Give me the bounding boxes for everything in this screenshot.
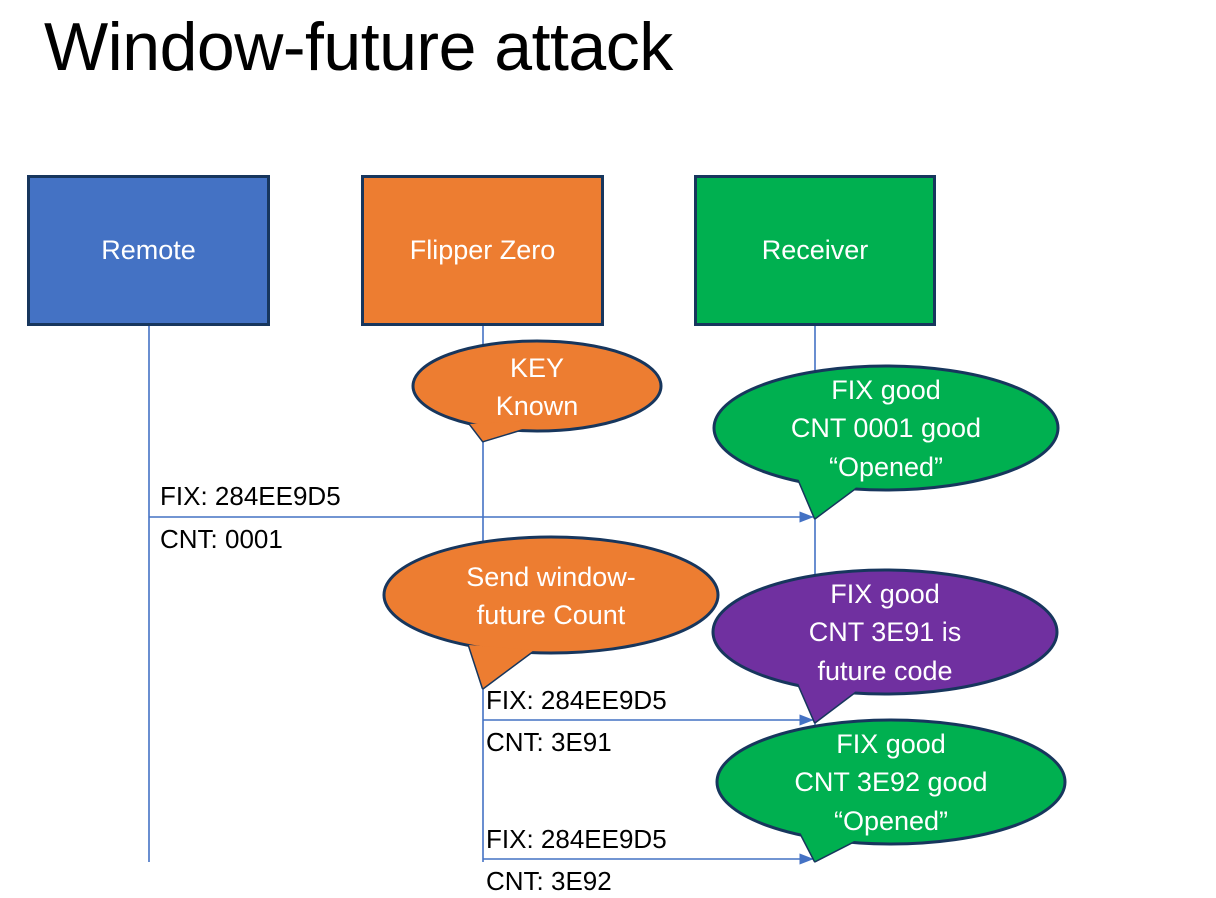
callout-tail-fill-fix-good-0001 [798, 478, 862, 518]
message-2-fix-label: FIX: 284EE9D5 [486, 685, 667, 716]
message-3-fix-label: FIX: 284EE9D5 [486, 824, 667, 855]
callout-shape-fix-good-0001 [714, 366, 1058, 518]
callout-bubble-send-window-future-count [384, 537, 718, 653]
slide-canvas: Window-future attack Remote Flipper Zero… [0, 0, 1216, 898]
actor-box-flipper-zero[interactable]: Flipper Zero [361, 175, 604, 326]
callout-bubble-fix-good-0001 [714, 366, 1058, 490]
callout-shape-key-known [413, 341, 661, 441]
callout-bubble-fix-good-3e92 [717, 720, 1065, 844]
callout-shape-fix-good-3e92 [717, 720, 1065, 861]
actor-label-remote: Remote [101, 234, 196, 266]
callout-bubble-fix-good-3e91-future [713, 570, 1057, 694]
callout-shape-send-window-future-count [384, 537, 718, 688]
actor-label-flipper-zero: Flipper Zero [410, 234, 556, 266]
message-2-cnt-label: CNT: 3E91 [486, 727, 612, 758]
actor-box-remote[interactable]: Remote [27, 175, 270, 326]
callout-shapes-group [384, 341, 1065, 861]
message-1-cnt-label: CNT: 0001 [160, 524, 283, 555]
callout-bubble-key-known [413, 341, 661, 431]
callout-tail-fill-fix-good-3e91-future [798, 683, 860, 722]
diagram-vector-layer [0, 0, 1216, 898]
callout-shape-fix-good-3e91-future [713, 570, 1057, 722]
actor-label-receiver: Receiver [762, 234, 869, 266]
callout-tail-fill-send-window-future-count [469, 645, 534, 688]
message-3-cnt-label: CNT: 3E92 [486, 866, 612, 897]
message-1-fix-label: FIX: 284EE9D5 [160, 481, 341, 512]
actor-box-receiver[interactable]: Receiver [694, 175, 936, 326]
